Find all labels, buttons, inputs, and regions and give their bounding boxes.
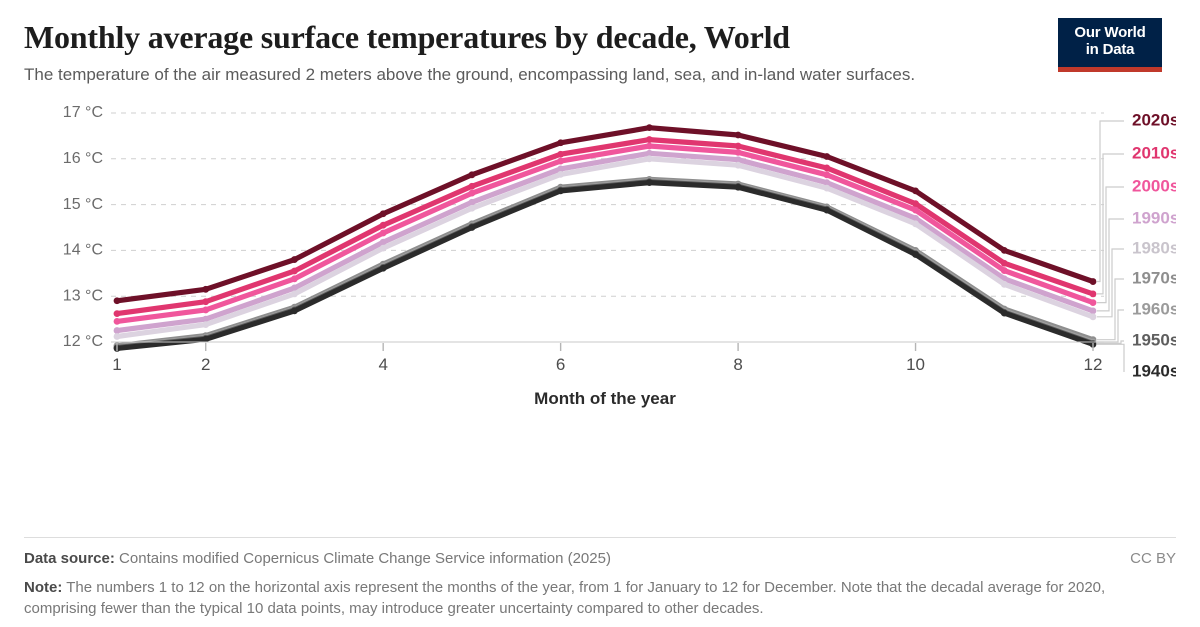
data-point[interactable] bbox=[202, 298, 209, 305]
data-source-text: Data source: Contains modified Copernicu… bbox=[24, 548, 611, 569]
data-point[interactable] bbox=[735, 132, 742, 139]
chart-header: Monthly average surface temperatures by … bbox=[24, 0, 1176, 87]
data-source-value: Contains modified Copernicus Climate Cha… bbox=[119, 550, 611, 567]
data-source-label: Data source: bbox=[24, 550, 115, 567]
legend-leader-line bbox=[1097, 279, 1124, 340]
data-point[interactable] bbox=[291, 256, 298, 263]
chart-svg: 2020s2010s2000s1990s1980s1970s1960s1950s… bbox=[24, 99, 1176, 429]
legend-label-1960s[interactable]: 1960s bbox=[1132, 299, 1176, 318]
legend-label-1980s[interactable]: 1980s bbox=[1132, 238, 1176, 257]
y-tick-label: 15 °C bbox=[63, 196, 103, 213]
data-point[interactable] bbox=[646, 143, 653, 150]
data-point[interactable] bbox=[912, 187, 919, 194]
data-point[interactable] bbox=[1090, 291, 1097, 298]
data-point[interactable] bbox=[1090, 313, 1097, 320]
data-point[interactable] bbox=[1001, 247, 1008, 254]
chart-page: Monthly average surface temperatures by … bbox=[0, 0, 1200, 627]
data-point[interactable] bbox=[823, 171, 830, 178]
x-tick-label: 2 bbox=[201, 355, 210, 374]
data-point[interactable] bbox=[380, 222, 387, 229]
chart-footer: Data source: Contains modified Copernicu… bbox=[24, 537, 1176, 619]
series-1940s[interactable] bbox=[114, 179, 1097, 352]
data-point[interactable] bbox=[646, 155, 653, 162]
x-tick-label: 10 bbox=[906, 355, 925, 374]
legend-leader-line bbox=[1097, 154, 1124, 294]
data-point[interactable] bbox=[557, 158, 564, 165]
data-point[interactable] bbox=[202, 321, 209, 328]
data-point[interactable] bbox=[380, 265, 387, 272]
data-point[interactable] bbox=[912, 220, 919, 227]
our-world-in-data-logo[interactable]: Our World in Data bbox=[1058, 18, 1162, 72]
data-point[interactable] bbox=[646, 124, 653, 131]
data-point[interactable] bbox=[380, 210, 387, 217]
data-point[interactable] bbox=[291, 275, 298, 282]
note-text: The numbers 1 to 12 on the horizontal ax… bbox=[24, 579, 1105, 617]
data-point[interactable] bbox=[1090, 278, 1097, 285]
legend-leader-line bbox=[1097, 310, 1124, 342]
data-point[interactable] bbox=[823, 165, 830, 172]
y-tick-label: 16 °C bbox=[63, 150, 103, 167]
page-title: Monthly average surface temperatures by … bbox=[24, 18, 1036, 56]
legend-labels-group[interactable]: 2020s2010s2000s1990s1980s1970s1960s1950s… bbox=[1132, 110, 1176, 380]
data-point[interactable] bbox=[469, 171, 476, 178]
data-point[interactable] bbox=[557, 187, 564, 194]
data-point[interactable] bbox=[1001, 267, 1008, 274]
series-line-2000s[interactable] bbox=[117, 146, 1093, 321]
logo-line-1: Our World bbox=[1058, 24, 1162, 41]
data-point[interactable] bbox=[114, 318, 121, 325]
legend-label-1950s[interactable]: 1950s bbox=[1132, 330, 1176, 349]
data-point[interactable] bbox=[912, 200, 919, 207]
data-point[interactable] bbox=[202, 307, 209, 314]
data-point[interactable] bbox=[1001, 281, 1008, 288]
x-tick-label: 6 bbox=[556, 355, 565, 374]
data-point[interactable] bbox=[291, 291, 298, 298]
data-point[interactable] bbox=[912, 207, 919, 214]
legend-leader-line bbox=[1097, 219, 1124, 311]
data-point[interactable] bbox=[114, 333, 121, 340]
data-point[interactable] bbox=[735, 184, 742, 191]
data-point[interactable] bbox=[469, 190, 476, 197]
chart-area: 2020s2010s2000s1990s1980s1970s1960s1950s… bbox=[24, 99, 1176, 429]
data-point[interactable] bbox=[557, 171, 564, 178]
x-tick-label: 8 bbox=[733, 355, 742, 374]
data-point[interactable] bbox=[646, 179, 653, 186]
data-point[interactable] bbox=[380, 245, 387, 252]
data-point[interactable] bbox=[291, 307, 298, 314]
x-tick-label: 1 bbox=[112, 355, 121, 374]
data-point[interactable] bbox=[912, 251, 919, 258]
logo-line-2: in Data bbox=[1058, 41, 1162, 58]
data-point[interactable] bbox=[202, 286, 209, 293]
y-axis-labels: 12 °C13 °C14 °C15 °C16 °C17 °C bbox=[63, 104, 103, 350]
chart-note: Note: The numbers 1 to 12 on the horizon… bbox=[24, 577, 1176, 619]
y-tick-label: 14 °C bbox=[63, 242, 103, 259]
x-axis-title: Month of the year bbox=[534, 389, 676, 408]
data-point[interactable] bbox=[735, 143, 742, 150]
data-point[interactable] bbox=[557, 139, 564, 146]
data-point[interactable] bbox=[557, 151, 564, 158]
line-chart-plot: 2020s2010s2000s1990s1980s1970s1960s1950s… bbox=[24, 99, 1176, 429]
data-point[interactable] bbox=[735, 149, 742, 156]
legend-leader-line bbox=[1097, 121, 1124, 282]
footer-divider bbox=[24, 537, 1176, 538]
legend-label-1970s[interactable]: 1970s bbox=[1132, 268, 1176, 287]
x-tick-label: 12 bbox=[1084, 355, 1103, 374]
series-line-1940s[interactable] bbox=[117, 183, 1093, 349]
data-point[interactable] bbox=[823, 153, 830, 160]
note-label: Note: bbox=[24, 579, 62, 596]
data-point[interactable] bbox=[114, 327, 121, 334]
data-point[interactable] bbox=[291, 268, 298, 275]
x-axis-group: 124681012Month of the year bbox=[111, 342, 1104, 408]
y-tick-label: 17 °C bbox=[63, 104, 103, 121]
y-tick-label: 12 °C bbox=[63, 333, 103, 350]
data-source-row: Data source: Contains modified Copernicu… bbox=[24, 548, 1176, 569]
license-badge[interactable]: CC BY bbox=[1130, 548, 1176, 569]
legend-leader-line bbox=[1097, 249, 1124, 317]
y-tick-label: 13 °C bbox=[63, 287, 103, 304]
legend-label-2010s[interactable]: 2010s bbox=[1132, 143, 1176, 162]
legend-label-2000s[interactable]: 2000s bbox=[1132, 176, 1176, 195]
data-point[interactable] bbox=[823, 207, 830, 214]
data-point[interactable] bbox=[469, 224, 476, 231]
x-tick-label: 4 bbox=[378, 355, 387, 374]
data-point[interactable] bbox=[380, 230, 387, 237]
data-point[interactable] bbox=[1090, 299, 1097, 306]
data-point[interactable] bbox=[114, 310, 121, 317]
data-point[interactable] bbox=[1001, 260, 1008, 267]
data-point[interactable] bbox=[469, 205, 476, 212]
legend-label-1990s[interactable]: 1990s bbox=[1132, 208, 1176, 227]
data-point[interactable] bbox=[646, 136, 653, 143]
data-point[interactable] bbox=[735, 162, 742, 169]
legend-label-1940s[interactable]: 1940s bbox=[1132, 361, 1176, 380]
data-point[interactable] bbox=[1001, 310, 1008, 317]
legend-label-2020s[interactable]: 2020s bbox=[1132, 110, 1176, 129]
data-point[interactable] bbox=[823, 185, 830, 192]
data-point[interactable] bbox=[114, 297, 121, 304]
data-point[interactable] bbox=[469, 183, 476, 190]
chart-subtitle: The temperature of the air measured 2 me… bbox=[24, 62, 1024, 87]
